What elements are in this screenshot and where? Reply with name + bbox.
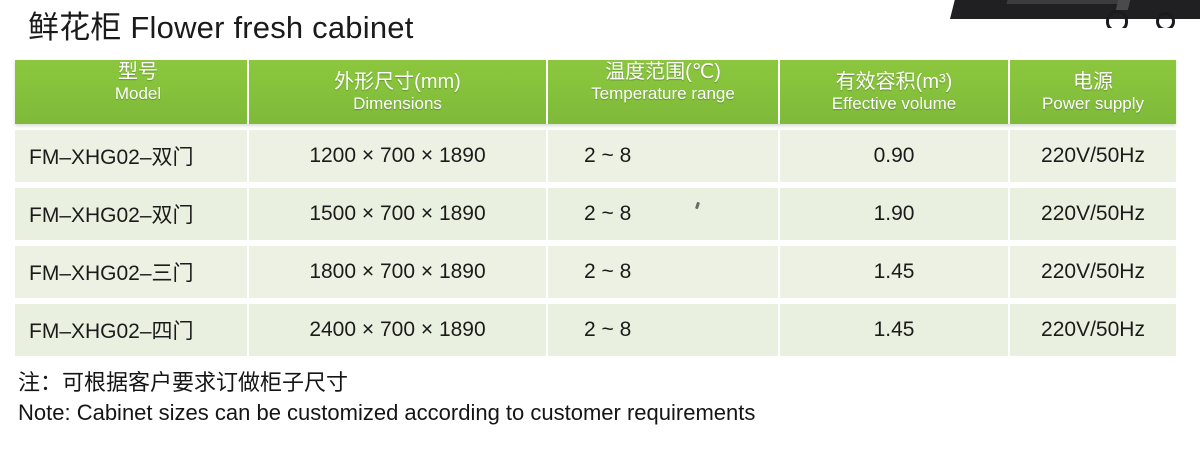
specification-table: 型号 Model 外形尺寸(mm) Dimensions 温度范围(℃) Tem… (15, 60, 1176, 356)
cell-dimensions: 1500 × 700 × 1890 (247, 188, 546, 240)
cell-model: FM–XHG02–三门 (15, 246, 247, 298)
cell-dimensions: 2400 × 700 × 1890 (247, 304, 546, 356)
table-row: FM–XHG02–三门 1800 × 700 × 1890 2 ~ 8 1.45… (15, 246, 1176, 298)
column-header-power-en: Power supply (1042, 94, 1144, 114)
column-header-temperature: 温度范围(℃) Temperature range (546, 60, 778, 124)
cabinet-side-edge (1116, 0, 1160, 10)
table-header-row: 型号 Model 外形尺寸(mm) Dimensions 温度范围(℃) Tem… (15, 60, 1176, 124)
table-row: FM–XHG02–四门 2400 × 700 × 1890 2 ~ 8 1.45… (15, 304, 1176, 356)
page-title: 鲜花柜 Flower fresh cabinet (28, 9, 414, 47)
column-header-dimensions-en: Dimensions (353, 94, 442, 114)
product-photo-cabinet-base (910, 0, 1200, 28)
cell-model: FM–XHG02–双门 (15, 188, 247, 240)
column-header-dimensions: 外形尺寸(mm) Dimensions (247, 60, 546, 124)
cell-volume: 0.90 (778, 130, 1008, 182)
cell-power: 220V/50Hz (1008, 130, 1176, 182)
footer-note-cn: 注：可根据客户要求订做柜子尺寸 (18, 368, 1018, 398)
cell-temperature: 2 ~ 8 (546, 188, 778, 240)
cabinet-body (950, 0, 1200, 19)
cell-volume: 1.45 (778, 246, 1008, 298)
column-header-temperature-en: Temperature range (591, 84, 735, 104)
table-row: FM–XHG02–双门 1500 × 700 × 1890 2 ~ 8 1.90… (15, 188, 1176, 240)
cell-dimensions: 1800 × 700 × 1890 (247, 246, 546, 298)
column-header-model-en: Model (115, 84, 161, 104)
column-header-volume: 有效容积(m³) Effective volume (778, 60, 1008, 124)
footer-note: 注：可根据客户要求订做柜子尺寸 Note: Cabinet sizes can … (18, 368, 1018, 428)
cell-power: 220V/50Hz (1008, 246, 1176, 298)
cell-volume: 1.45 (778, 304, 1008, 356)
cell-model: FM–XHG02–四门 (15, 304, 247, 356)
column-header-temperature-cn: 温度范围(℃) (605, 60, 721, 84)
cell-model: FM–XHG02–双门 (15, 130, 247, 182)
column-header-power: 电源 Power supply (1008, 60, 1176, 124)
cell-dimensions: 1200 × 700 × 1890 (247, 130, 546, 182)
column-header-model-cn: 型号 (118, 60, 158, 84)
column-header-volume-cn: 有效容积(m³) (836, 70, 953, 94)
cell-power: 220V/50Hz (1008, 188, 1176, 240)
caster-wheel-left (1106, 10, 1128, 28)
cell-temperature: 2 ~ 8 (546, 246, 778, 298)
column-header-power-cn: 电源 (1073, 70, 1113, 94)
scan-artifact-speck (695, 202, 700, 210)
column-header-volume-en: Effective volume (832, 94, 956, 114)
cell-temperature: 2 ~ 8 (546, 130, 778, 182)
cell-power: 220V/50Hz (1008, 304, 1176, 356)
column-header-model: 型号 Model (15, 60, 247, 124)
column-header-dimensions-cn: 外形尺寸(mm) (334, 70, 461, 94)
cell-volume: 1.90 (778, 188, 1008, 240)
footer-note-en: Note: Cabinet sizes can be customized ac… (18, 398, 1018, 428)
cabinet-glass-panel (1007, 0, 1156, 4)
table-row: FM–XHG02–双门 1200 × 700 × 1890 2 ~ 8 0.90… (15, 130, 1176, 182)
caster-wheel-right (1156, 12, 1175, 28)
cell-temperature-value: 2 ~ 8 (584, 202, 631, 226)
cell-temperature: 2 ~ 8 (546, 304, 778, 356)
